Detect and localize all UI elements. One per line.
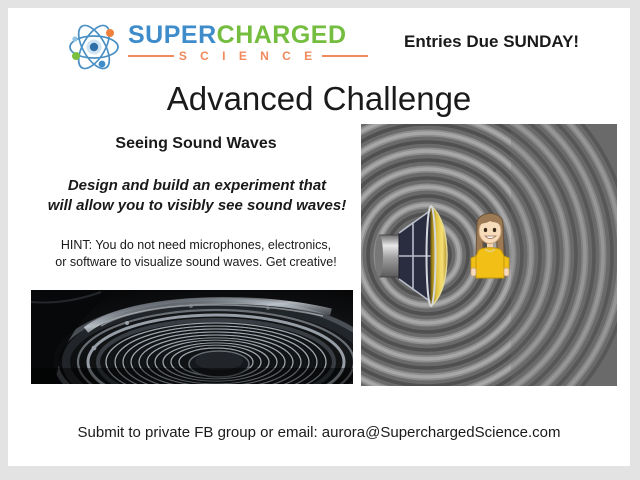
page-title: Advanced Challenge [8, 80, 630, 118]
challenge-description: Design and build an experiment that will… [34, 176, 360, 216]
challenge-hint: HINT: You do not need microphones, elect… [30, 237, 362, 271]
challenge-hint-line1: HINT: You do not need microphones, elect… [30, 237, 362, 254]
logo-subline: S C I E N C E [128, 49, 368, 63]
logo-dash-right [322, 55, 368, 57]
challenge-hint-line2: or software to visualize sound waves. Ge… [30, 254, 362, 271]
challenge-description-line1: Design and build an experiment that [34, 176, 360, 196]
supercharged-science-logo[interactable]: SUPERCHARGED S C I E N C E [66, 20, 366, 74]
challenge-description-line2: will allow you to visibly see sound wave… [34, 196, 360, 216]
slide-frame: SUPERCHARGED S C I E N C E Entries Due S… [0, 0, 640, 480]
atom-icon [66, 22, 122, 72]
logo-word-charged: CHARGED [217, 21, 347, 49]
footer-submit-instructions: Submit to private FB group or email: aur… [8, 424, 630, 441]
challenge-subtitle: Seeing Sound Waves [40, 135, 352, 153]
girl-listener-icon [471, 214, 509, 279]
logo-word-super: SUPER [128, 21, 217, 49]
logo-word-science: S C I E N C E [179, 49, 317, 63]
slide-canvas: SUPERCHARGED S C I E N C E Entries Due S… [8, 8, 630, 466]
subwoofer-photo [31, 290, 353, 384]
entries-due-notice: Entries Due SUNDAY! [404, 32, 579, 52]
logo-dash-left [128, 55, 174, 57]
logo-wordmark: SUPERCHARGED S C I E N C E [128, 22, 368, 63]
sound-wave-simulation-image [361, 124, 617, 386]
